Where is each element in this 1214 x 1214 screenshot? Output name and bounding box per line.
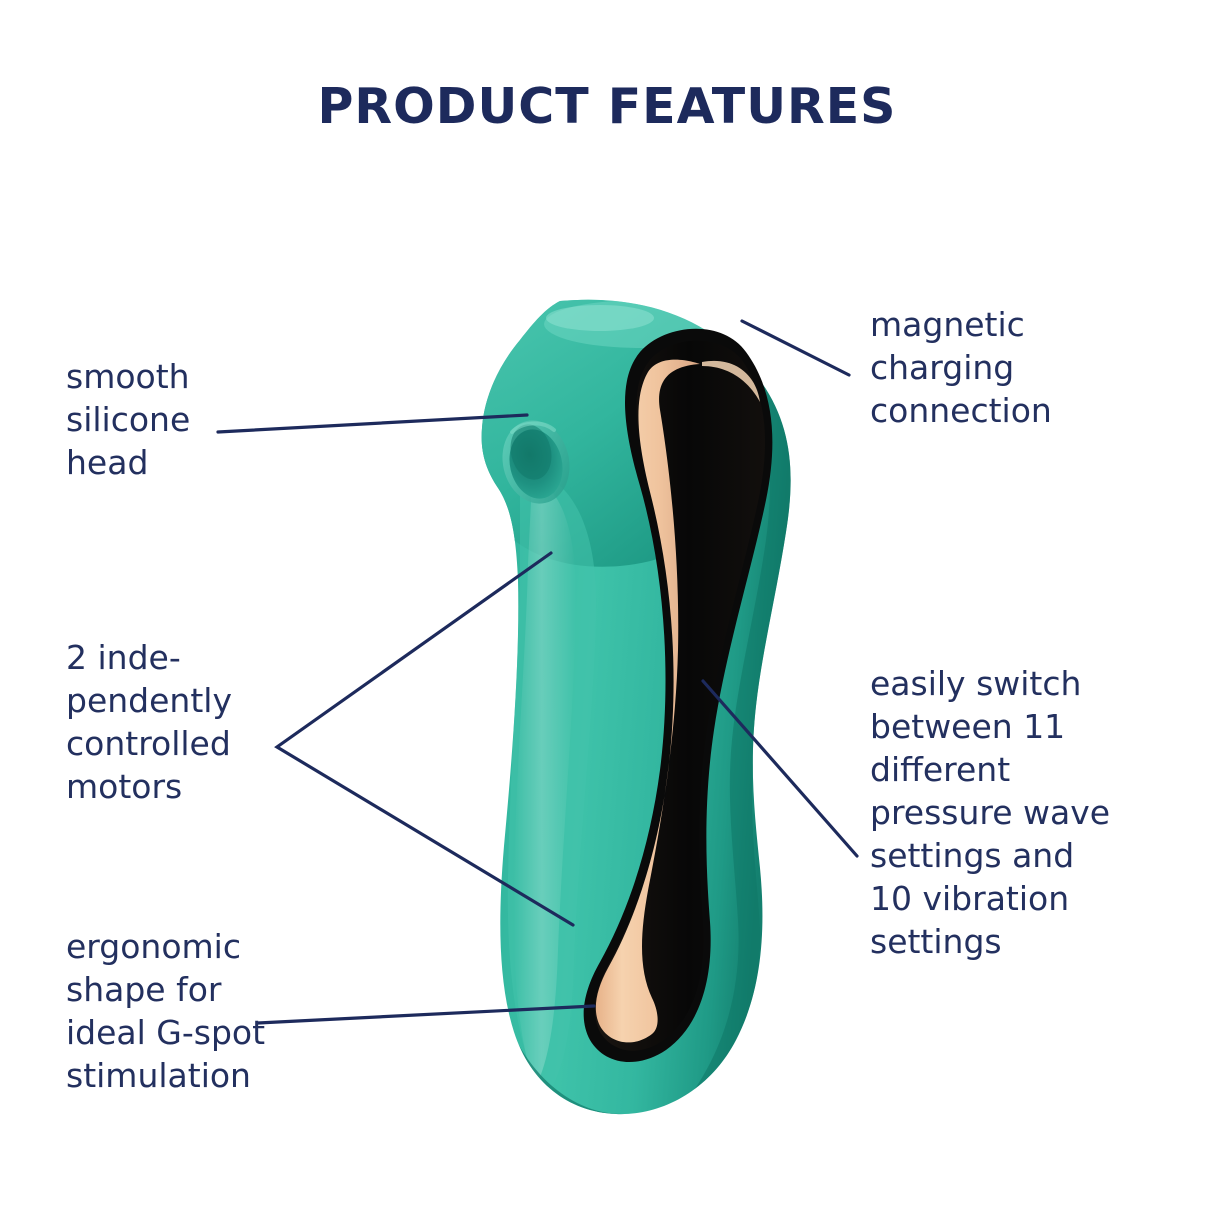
product-body <box>466 296 793 1124</box>
callout-two-independently-controlled-motors: 2 inde- pendently controlled motors <box>66 636 346 808</box>
product-features-diagram: PRODUCT FEATURES <box>0 0 1214 1214</box>
leader-line-magnetic-charging <box>742 321 849 375</box>
callout-magnetic-charging-connection: magnetic charging connection <box>870 303 1150 432</box>
page-title: PRODUCT FEATURES <box>0 78 1214 135</box>
callout-smooth-silicone-head: smooth silicone head <box>66 355 316 484</box>
leader-line-settings <box>703 681 857 856</box>
silicone-head-nozzle <box>494 414 577 511</box>
callout-ergonomic-shape: ergonomic shape for ideal G-spot stimula… <box>66 925 366 1097</box>
callout-settings: easily switch between 11 different press… <box>870 662 1170 963</box>
control-panel-inset <box>584 329 773 1062</box>
